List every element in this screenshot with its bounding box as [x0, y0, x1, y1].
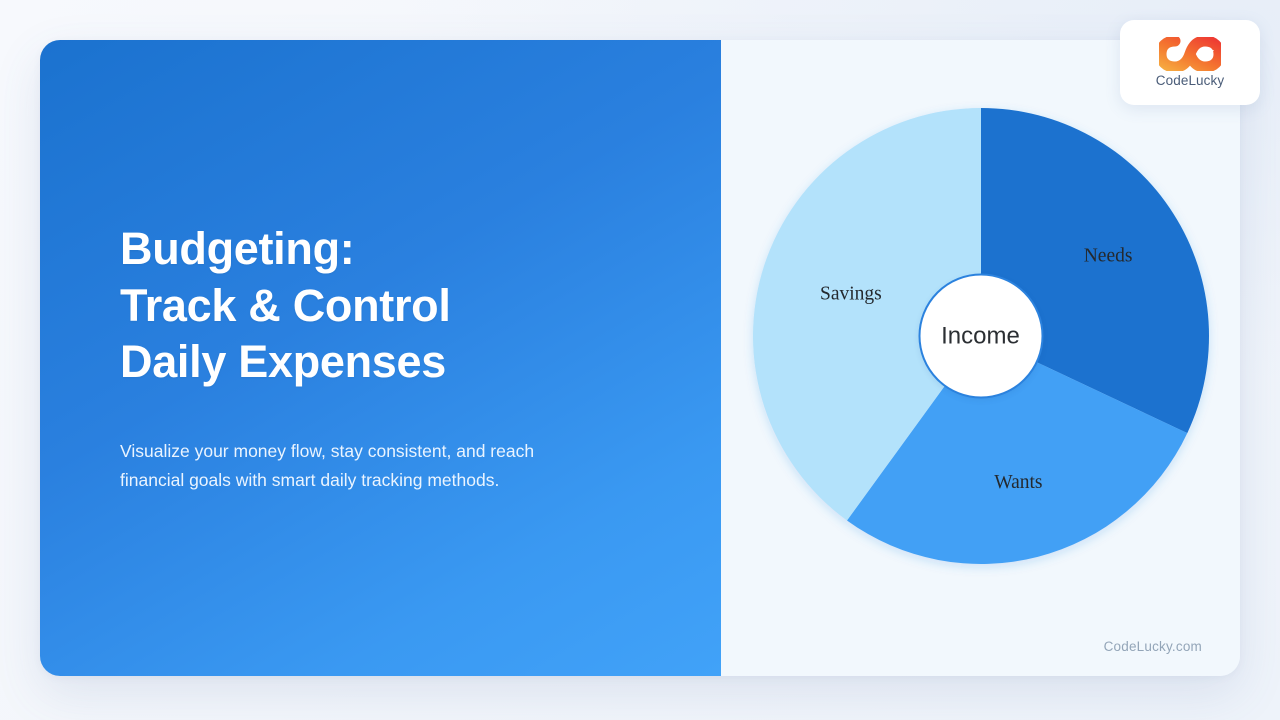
pie-label-wants: Wants [994, 472, 1042, 493]
subtitle-line-2: financial goals with smart daily trackin… [120, 466, 610, 495]
slide-card: Budgeting: Track & Control Daily Expense… [40, 40, 1240, 676]
budget-donut-chart: Needs Wants Savings Income [748, 103, 1214, 569]
infinity-leaf-icon [1159, 37, 1221, 71]
hero-panel: Budgeting: Track & Control Daily Expense… [40, 40, 721, 676]
pie-label-needs: Needs [1083, 245, 1132, 266]
center-label-text: Income [941, 322, 1020, 350]
title-line-2: Track & Control [120, 278, 721, 335]
chart-panel: Needs Wants Savings Income CodeLucky.com [721, 40, 1240, 676]
donut-center-label: Income [918, 274, 1043, 399]
hero-subtitle: Visualize your money flow, stay consiste… [120, 437, 610, 495]
title-line-1: Budgeting: [120, 221, 721, 278]
page-title: Budgeting: Track & Control Daily Expense… [120, 221, 721, 391]
watermark-text: CodeLucky.com [1104, 639, 1202, 654]
title-line-3: Daily Expenses [120, 334, 721, 391]
subtitle-line-1: Visualize your money flow, stay consiste… [120, 437, 610, 466]
pie-label-savings: Savings [820, 284, 882, 305]
brand-name: CodeLucky [1156, 73, 1224, 88]
brand-logo-badge[interactable]: CodeLucky [1120, 20, 1260, 105]
